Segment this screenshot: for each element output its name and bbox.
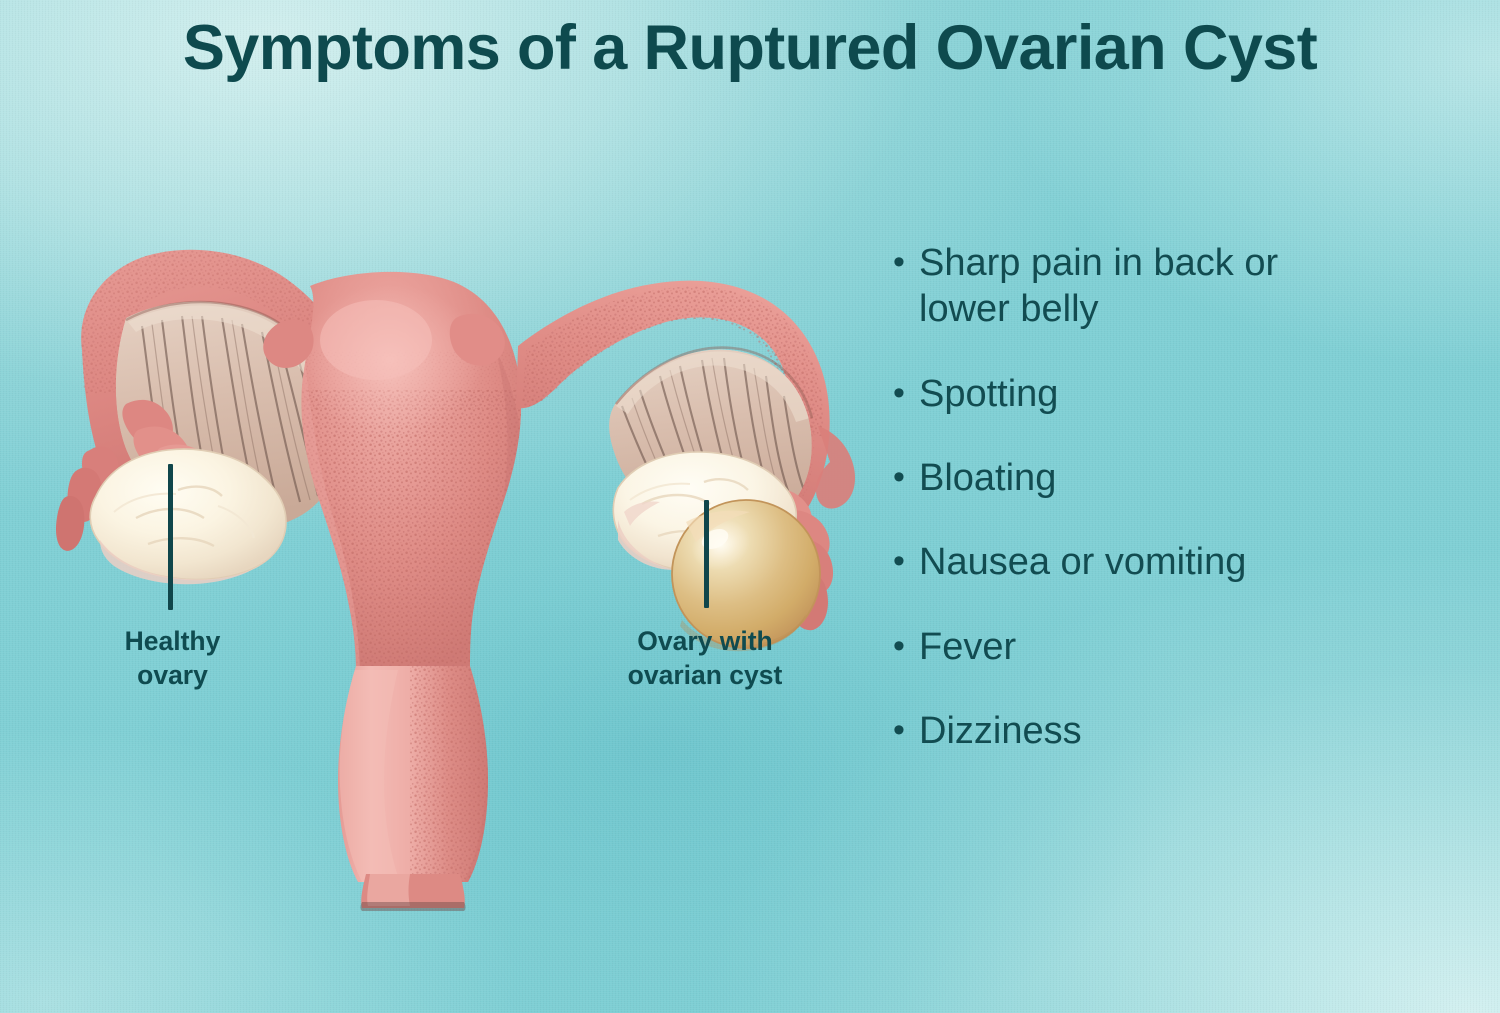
list-item: • Sharp pain in back or lower belly — [893, 240, 1453, 333]
bullet-icon: • — [893, 624, 919, 668]
symptom-label: Spotting — [919, 371, 1453, 417]
bullet-icon: • — [893, 240, 919, 284]
list-item: • Nausea or vomiting — [893, 539, 1453, 585]
list-item: • Fever — [893, 624, 1453, 670]
list-item: • Dizziness — [893, 708, 1453, 754]
callout-label-ovarian-cyst: Ovary with ovarian cyst — [560, 625, 850, 693]
list-item: • Spotting — [893, 371, 1453, 417]
cervix — [338, 662, 504, 888]
symptom-label: Nausea or vomiting — [919, 539, 1453, 585]
symptom-list: • Sharp pain in back or lower belly • Sp… — [893, 240, 1453, 793]
bullet-icon: • — [893, 539, 919, 583]
list-item: • Bloating — [893, 455, 1453, 501]
infographic-root: Symptoms of a Ruptured Ovarian Cyst — [0, 0, 1500, 1013]
vaginal-canal — [361, 874, 466, 911]
leader-line-healthy-ovary — [168, 464, 173, 610]
bullet-icon: • — [893, 455, 919, 499]
callout-label-healthy-ovary: Healthy ovary — [45, 625, 300, 693]
symptom-label: Dizziness — [919, 708, 1453, 754]
symptom-label: Bloating — [919, 455, 1453, 501]
uterus-anatomy-illustration — [18, 200, 878, 920]
bullet-icon: • — [893, 371, 919, 415]
page-title: Symptoms of a Ruptured Ovarian Cyst — [0, 14, 1500, 82]
leader-line-ovarian-cyst — [704, 500, 709, 608]
bullet-icon: • — [893, 708, 919, 752]
symptom-label: Fever — [919, 624, 1453, 670]
symptom-label: Sharp pain in back or lower belly — [919, 240, 1453, 333]
